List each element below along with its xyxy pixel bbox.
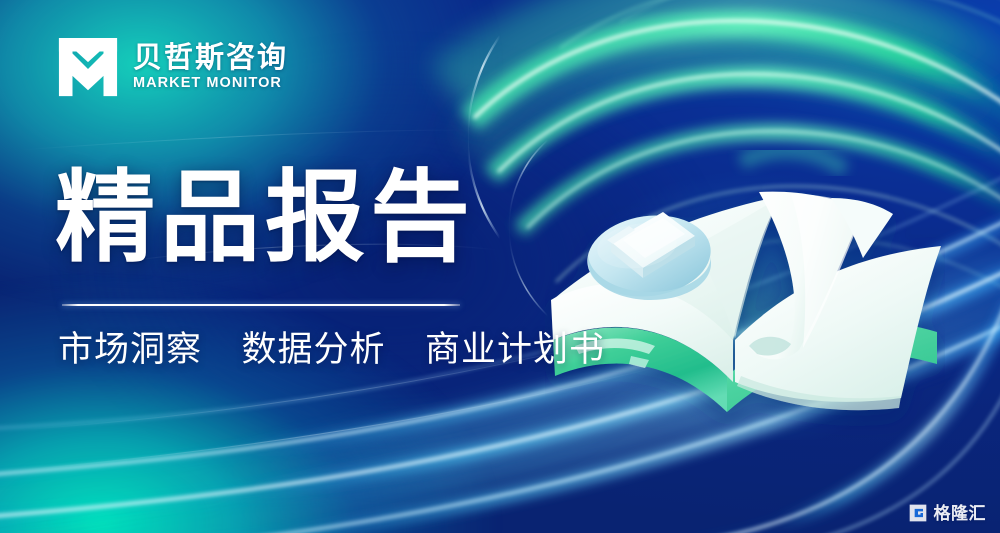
report-banner: 贝哲斯咨询 MARKET MONITOR 精品报告 市场洞察 数据分析 商业计划…	[0, 0, 1000, 533]
brand-name-en: MARKET MONITOR	[133, 76, 288, 91]
subtitle-item-0: 市场洞察	[58, 330, 202, 369]
title-divider	[62, 304, 460, 306]
source-watermark-label: 格隆汇	[934, 505, 987, 522]
subtitle-item-1: 数据分析	[241, 330, 385, 369]
brand-logo: 贝哲斯咨询 MARKET MONITOR	[57, 36, 288, 98]
subtitle: 市场洞察 数据分析 商业计划书	[58, 328, 605, 372]
open-book-illustration	[545, 150, 945, 440]
market-monitor-m-logo-icon	[57, 36, 119, 98]
gelonghui-g-logo-icon	[908, 503, 928, 523]
source-watermark: 格隆汇	[908, 503, 987, 523]
subtitle-item-2: 商业计划书	[425, 330, 605, 369]
brand-logo-text: 贝哲斯咨询 MARKET MONITOR	[133, 44, 288, 91]
brand-name-cn: 贝哲斯咨询	[133, 44, 288, 73]
page-title: 精品报告	[55, 165, 475, 271]
